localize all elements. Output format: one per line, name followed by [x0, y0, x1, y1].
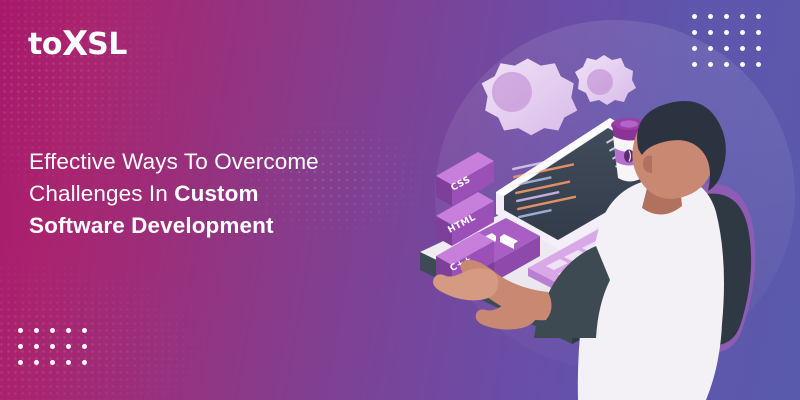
hero-illustration: CSS HTML C++	[400, 0, 800, 400]
headline-line-3: Software Development	[29, 210, 374, 242]
headline-line-2-bold-text: Custom	[174, 181, 258, 206]
headline-line-2: Challenges In Custom	[29, 178, 374, 210]
headline-line-1-text: Effective Ways To Overcome	[29, 149, 319, 174]
logo-text-x: X	[62, 24, 87, 64]
promo-banner: toXSL Effective Ways To Overcome Challen…	[0, 0, 800, 400]
headline-line-3-bold-text: Software Development	[29, 213, 274, 238]
logo-text-part1: to	[28, 27, 62, 62]
halftone-texture-bottom-left	[0, 250, 230, 400]
headline-line-1: Effective Ways To Overcome	[29, 146, 374, 178]
headline-block: Effective Ways To Overcome Challenges In…	[29, 146, 374, 242]
dot-grid-bottom-left	[18, 328, 98, 376]
logo-text-part2: SL	[87, 27, 127, 62]
headline-line-2-thin-text: Challenges In	[29, 181, 174, 206]
brand-logo[interactable]: toXSL	[28, 26, 127, 60]
